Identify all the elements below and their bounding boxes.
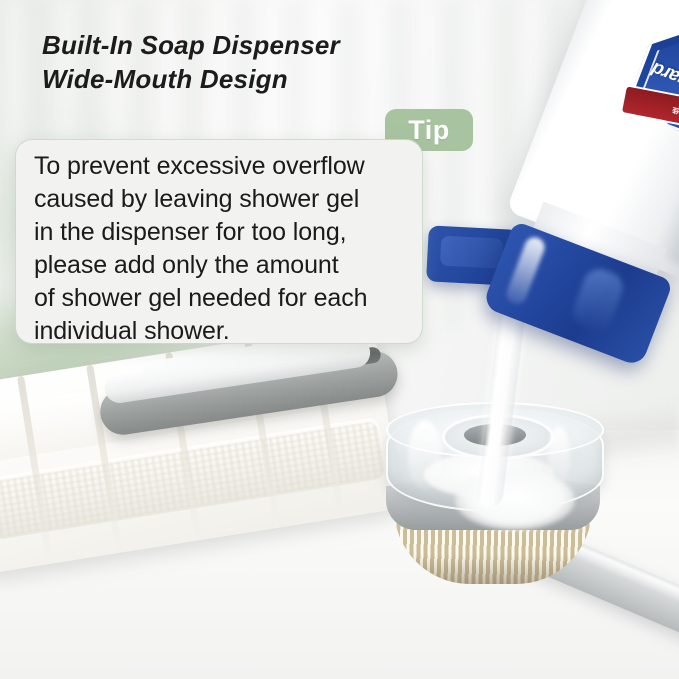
- product-image-stage: 舒肤佳 Safeguard Built-In Soap Dispenser Wi…: [0, 0, 679, 679]
- tip-card-text: To prevent excessive overflow caused by …: [34, 150, 406, 348]
- gel-pool: [455, 470, 575, 530]
- reservoir-highlight-left: [408, 420, 442, 490]
- tip-line: please add only the amount: [34, 249, 406, 282]
- tip-line: in the dispenser for too long,: [34, 216, 406, 249]
- headline-line-1: Built-In Soap Dispenser: [42, 28, 462, 62]
- headline-line-2: Wide-Mouth Design: [42, 62, 462, 96]
- tip-line: individual shower.: [34, 315, 406, 348]
- tip-card: To prevent excessive overflow caused by …: [16, 140, 422, 343]
- cleaning-brush: [372, 400, 679, 660]
- tip-line: caused by leaving shower gel: [34, 183, 406, 216]
- tip-line: To prevent excessive overflow: [34, 150, 406, 183]
- tip-line: of shower gel needed for each: [34, 282, 406, 315]
- tip-badge-label: Tip: [408, 115, 450, 146]
- bottle-flip-lid-inner: [440, 236, 503, 269]
- bristle-shading: [394, 554, 592, 584]
- page-title: Built-In Soap Dispenser Wide-Mouth Desig…: [42, 28, 462, 96]
